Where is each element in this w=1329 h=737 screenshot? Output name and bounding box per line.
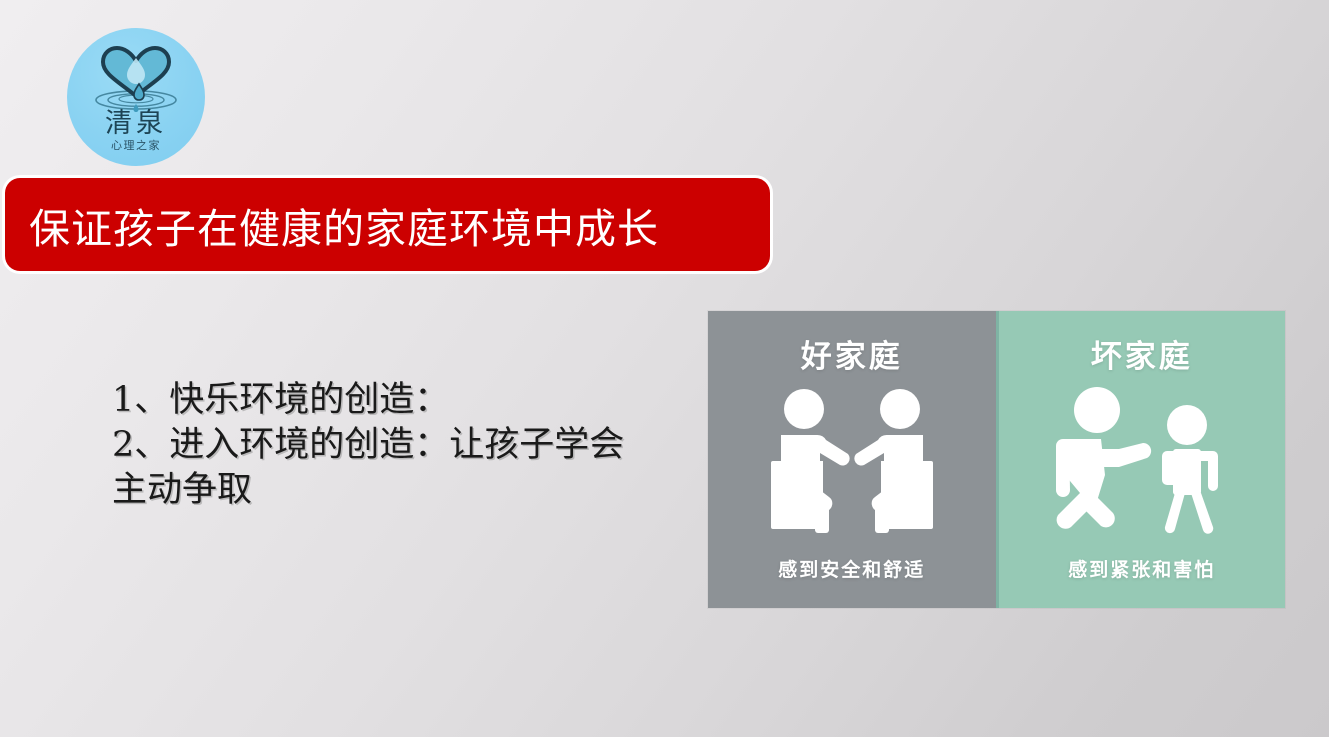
family-comparison-image: 好家庭 感到安全和舒适 (708, 311, 1285, 608)
good-family-caption: 感到安全和舒适 (708, 555, 996, 582)
logo-subtitle: 心理之家 (67, 140, 205, 151)
good-family-title: 好家庭 (708, 331, 996, 376)
adult-chasing-child-icon (1047, 383, 1237, 543)
slide-canvas: 清泉 心理之家 保证孩子在健康的家庭环境中成长 1、快乐环境的创造： 2、进入环… (0, 0, 1329, 737)
page-title: 保证孩子在健康的家庭环境中成长 (5, 195, 659, 255)
body-text-block: 1、快乐环境的创造： 2、进入环境的创造：让孩子学会 主动争取 (112, 378, 712, 513)
two-people-sitting-facing-each-other-icon (757, 383, 947, 543)
body-line-2: 2、进入环境的创造：让孩子学会 (112, 423, 712, 468)
bad-family-panel: 坏家庭 感到紧张 (996, 311, 1286, 608)
slide-title-banner: 保证孩子在健康的家庭环境中成长 (5, 178, 770, 271)
bad-family-caption: 感到紧张和害怕 (999, 555, 1286, 582)
body-line-1: 1、快乐环境的创造： (112, 378, 712, 423)
good-family-panel: 好家庭 感到安全和舒适 (708, 311, 996, 608)
body-line-3: 主动争取 (112, 468, 712, 513)
brand-logo: 清泉 心理之家 (67, 28, 205, 166)
bad-family-title: 坏家庭 (999, 331, 1286, 376)
logo-name: 清泉 (67, 110, 205, 137)
